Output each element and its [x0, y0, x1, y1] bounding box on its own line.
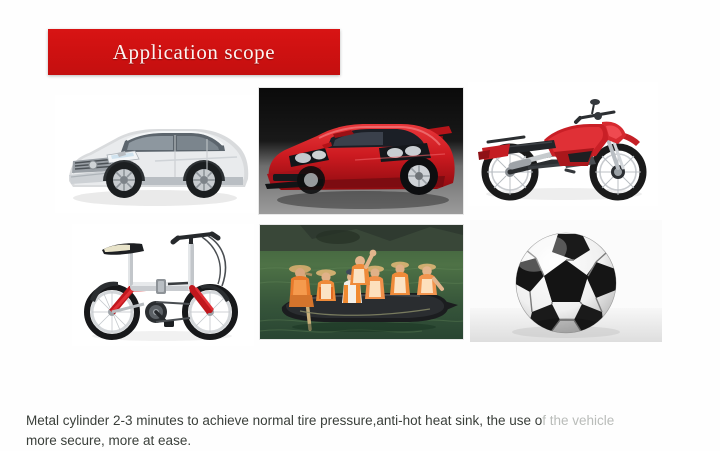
gallery-item-motorcycle[interactable] [468, 82, 658, 206]
page-title: Application scope [113, 40, 275, 65]
gallery-item-inflatable-boat[interactable] [260, 225, 463, 339]
slide-canvas: Application scope [0, 0, 720, 450]
inflatable-boat-illustration [260, 225, 463, 339]
header-banner: Application scope [48, 29, 340, 75]
caption-line-1: Metal cylinder 2-3 minutes to achieve no… [26, 413, 542, 428]
gallery-item-folding-bicycle[interactable] [72, 224, 254, 346]
folding-bicycle-illustration [72, 224, 254, 346]
caption-line-1-faded: f the vehicle [542, 413, 614, 428]
gallery-item-sports-car[interactable] [259, 88, 463, 214]
soccer-ball-illustration [470, 220, 662, 342]
sports-car-illustration [259, 88, 463, 214]
motorcycle-illustration [468, 82, 658, 206]
gallery-item-soccer-ball[interactable] [470, 220, 662, 342]
gallery-item-sedan-car[interactable] [55, 95, 255, 213]
caption-text: Metal cylinder 2-3 minutes to achieve no… [26, 411, 702, 451]
sedan-car-illustration [55, 95, 255, 213]
caption-line-2: more secure, more at ease. [26, 433, 191, 448]
